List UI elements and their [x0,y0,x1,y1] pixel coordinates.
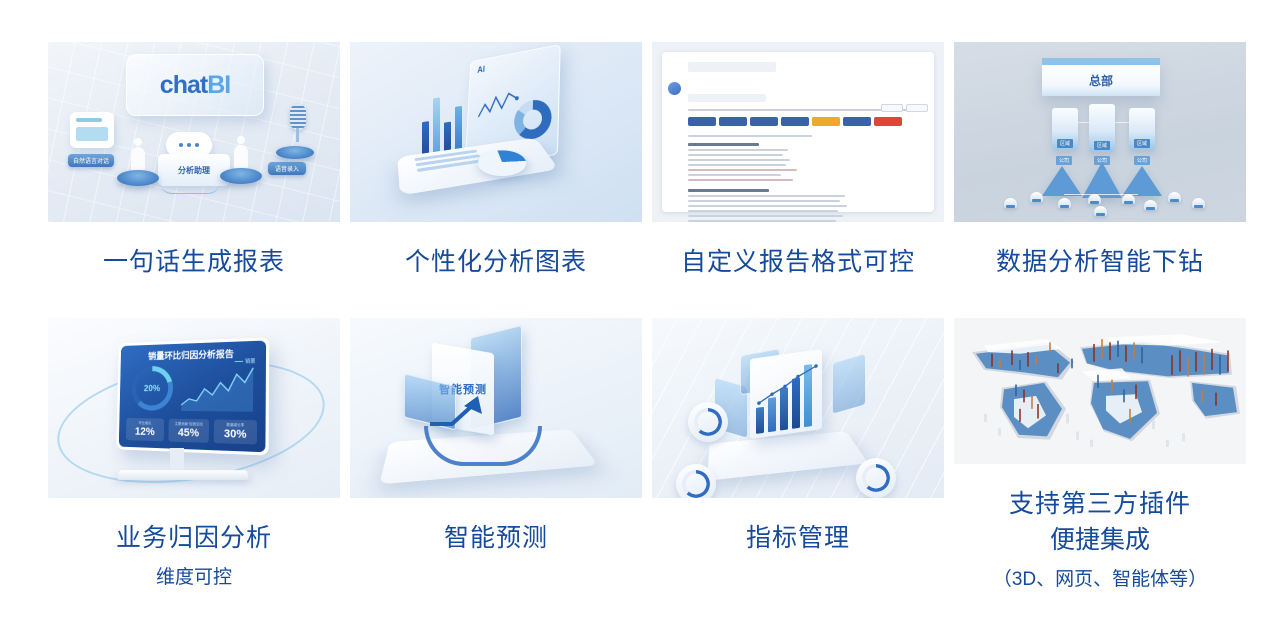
label-voice-input: 语音录入 [268,162,306,175]
sub-question-bar [688,94,766,102]
feature-caption: 智能预测 [444,520,548,556]
bar-chart-group [422,94,462,156]
pyramid-company-1 [1042,166,1082,196]
feature-caption: 指标管理 [746,520,850,556]
node-dome [1144,200,1157,210]
level-company-label-3: 公司 [1134,156,1150,165]
monitor-frame: 销量环比归因分析报告 20% 销量 环比增长 12% 主要 [116,337,269,455]
gauge-icon [682,470,710,498]
stat-card: 渠道增长率 30% [214,419,257,444]
feature-card-third-party-plugins[interactable]: 支持第三方插件 便捷集成 （3D、网页、智能体等） [954,318,1246,598]
thumbnail-report-ui-mockup [652,42,944,222]
feature-caption-line2: 维度可控 [116,560,272,596]
feature-caption-note: （3D、网页、智能体等） [993,562,1207,598]
node-dome [1192,198,1205,208]
stat-card: 环比增长 12% [126,418,164,441]
trend-up-arrow-icon [426,390,496,430]
donut-value: 20% [131,366,173,411]
thumbnail-drill-down-hierarchy: 总部 区域 区域 区域 公司 公司 公司 [954,42,1246,222]
feature-caption: 个性化分析图表 [405,244,587,280]
pyramid-company-3 [1122,166,1162,196]
gauge-icon [862,464,890,492]
thumbnail-forecast-glass-panels: 智能预测 [350,318,642,498]
node-dome [1030,192,1043,202]
pyramid-company-2 [1082,162,1122,198]
node-dome [1004,198,1017,208]
stat-cards: 环比增长 12% 主要贡献·促销活动 45% 渠道增长率 30% [126,418,257,445]
brand-bi-text: BI [207,71,230,99]
person-figure-left [131,138,145,174]
assistant-avatar-icon [668,82,681,95]
feature-card-personalized-charts[interactable]: AI 个性化分析图表 [350,42,642,302]
person-figure-right [234,136,248,172]
microphone-icon [286,104,310,144]
level-region-2: 区域 [1089,104,1115,152]
level-region-3: 区域 [1129,108,1155,150]
feature-card-smart-forecast[interactable]: 智能预测 智能预测 [350,318,642,598]
level-company-label-1: 公司 [1056,156,1072,165]
answer-body [688,80,926,204]
stat-card: 主要贡献·促销活动 45% [168,419,209,443]
level-region-1: 区域 [1052,108,1078,150]
brand-chat-text: chat [160,71,207,99]
feature-caption: 数据分析智能下钻 [996,244,1204,280]
monitor-stand [170,448,184,472]
question-bar [688,62,776,72]
feature-card-metric-management[interactable]: 指标管理 [652,318,944,598]
connector-wire [160,182,220,194]
glass-wing-right [832,353,866,415]
node-dome [1094,206,1107,216]
feature-caption: 自定义报告格式可控 [681,244,915,280]
feature-caption: 一句话生成报表 [103,244,285,280]
gauge-icon [694,408,722,436]
feature-caption-line2: 便捷集成 [993,522,1207,558]
node-dome [1122,194,1135,204]
feature-card-custom-report-format[interactable]: 自定义报告格式可控 [652,42,944,302]
thumbnail-monitor-dashboard: 销量环比归因分析报告 20% 销量 环比增长 12% 主要 [48,318,340,498]
feature-caption: 支持第三方插件 便捷集成 （3D、网页、智能体等） [993,486,1207,598]
thumbnail-metric-bar-chart-pedestal [652,318,944,498]
thumbnail-chat-bi-scene: chatBI 自然语言对话 语音录入 分析助理 [48,42,340,222]
feature-card-attribution-analysis[interactable]: 销量环比归因分析报告 20% 销量 环比增长 12% 主要 [48,318,340,598]
chat-bi-logo-panel: chatBI [126,54,264,116]
microphone-base [276,146,314,159]
node-dome [1058,198,1071,208]
report-app-window [662,52,934,212]
monitor-base [117,470,250,480]
tag-row [688,117,926,126]
thumbnail-world-map-3d-spikes [954,318,1246,464]
window-card-icon [70,112,114,148]
node-dome [1168,192,1181,202]
world-map-svg [954,318,1246,464]
person-base-left [117,170,159,186]
feature-caption: 业务归因分析 维度可控 [116,520,272,596]
feature-grid: chatBI 自然语言对话 语音录入 分析助理 一句话生成报表 AI [0,0,1280,626]
ai-badge: AI [477,64,485,75]
node-dome [1088,194,1101,204]
thumbnail-ai-laptop-charts: AI [350,42,642,222]
report-action-buttons[interactable] [881,104,928,112]
person-base-right [220,168,262,184]
feature-card-smart-drill-down[interactable]: 总部 区域 区域 区域 公司 公司 公司 数据分析智能下钻 [954,42,1246,302]
label-natural-language: 自然语言对话 [68,154,114,167]
line-chart-icon [179,364,257,414]
level-headquarters: 总部 [1042,58,1160,96]
feature-card-one-sentence-report[interactable]: chatBI 自然语言对话 语音录入 分析助理 一句话生成报表 [48,42,340,302]
